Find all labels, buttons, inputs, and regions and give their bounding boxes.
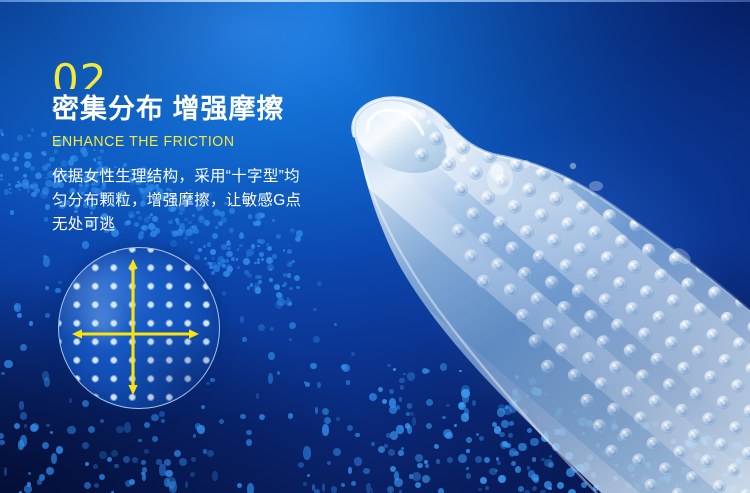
cross-arrowheads [72, 259, 199, 395]
description-text: 依据女性生理结构，采用“十字型”均匀分布颗粒，增强摩擦，让敏感G点无处可逃 [52, 165, 310, 237]
feature-banner: 02 密集分布 增强摩擦 ENHANCE THE FRICTION 依据女性生理… [0, 0, 750, 493]
subtitle-english: ENHANCE THE FRICTION [52, 133, 353, 151]
page-title: 密集分布 增强摩擦 [52, 93, 372, 125]
copy-block: 02 密集分布 增强摩擦 ENHANCE THE FRICTION 依据女性生理… [52, 62, 372, 237]
top-edge-highlight [0, 0, 750, 2]
section-number: 02 [52, 62, 372, 89]
cross-pattern-indicator [59, 248, 219, 408]
magnifier-inset [58, 247, 220, 409]
